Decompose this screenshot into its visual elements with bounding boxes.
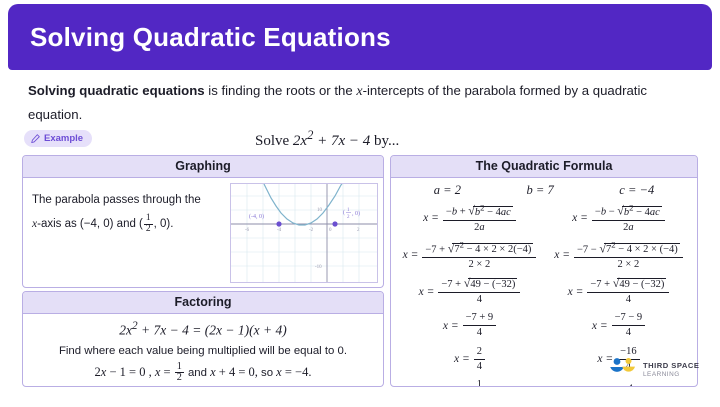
graph-frac-den: 2 [144,224,153,235]
brand-logo-line2: LEARNING [643,371,699,378]
formula-step: x = −7 + √49 − (−32)4 [544,277,693,306]
page-title: Solving Quadratic Equations [30,22,391,53]
root-point-left [276,221,281,226]
coefficient-b: b = 7 [527,183,554,198]
formula-step: x = −7 − √72 − 4 × 2 × (−4)2 × 2 [544,240,693,272]
svg-text:-4: -4 [277,228,282,233]
example-badge-label: Example [44,133,83,144]
svg-text:0: 0 [329,228,332,233]
coefficients-row: a = 2 b = 7 c = −4 [391,178,697,200]
factoring-equation: 2x2 + 7x − 4 = (2x − 1)(x + 4) [31,320,375,339]
graphing-panel-body: The parabola passes through the x-axis a… [23,178,383,288]
pencil-icon [31,134,40,143]
factoring-panel-title: Factoring [23,292,383,314]
parabola-chart: -6 -4 -2 0 2 10 -10 (-4, 0) [230,183,378,283]
formula-step: x = −7 − 94 [544,312,693,339]
formula-step: x = −7 + 94 [395,312,544,339]
brand-logo: THIRD SPACE LEARNING [608,356,699,385]
third-space-learning-icon [608,356,638,385]
solve-prefix: Solve [255,133,289,149]
graphing-panel: Graphing The parabola passes through the… [22,155,384,288]
factoring-final-line: 2x − 1 = 0 , x = 12 and x + 4 = 0, so x … [31,362,375,385]
factoring-note: Find where each value being multiplied w… [31,345,375,357]
svg-text:2: 2 [347,215,350,220]
intro-rest-1: is finding the roots or the [205,83,357,98]
svg-text:-10: -10 [315,265,322,270]
solve-expression: 2x2 + 7x − 4 [293,133,370,149]
svg-text:(-4, 0): (-4, 0) [249,213,264,220]
formula-step: x = −b + √b2 − 4ac2a [395,202,544,234]
solve-suffix: by... [374,133,399,149]
intro-paragraph: Solving quadratic equations is finding t… [28,80,700,125]
formula-column-plus: x = −b + √b2 − 4ac2a x = −7 + √72 − 4 × … [395,200,544,387]
root-point-right [332,221,337,226]
svg-text:, 0): , 0) [352,210,360,217]
example-badge: Example [24,130,92,147]
svg-text:2: 2 [357,228,360,233]
factoring-panel: Factoring 2x2 + 7x − 4 = (2x − 1)(x + 4)… [22,291,384,387]
brand-logo-line1: THIRD SPACE [643,362,699,371]
quadratic-formula-panel: The Quadratic Formula a = 2 b = 7 c = −4… [390,155,698,387]
graphing-description-line2: x-axis as (−4, 0) and (12, 0). [32,212,228,236]
svg-text:-6: -6 [245,228,250,233]
formula-step-result: x = 12 [395,379,544,387]
svg-text:10: 10 [317,208,323,213]
factoring-frac-num: 1 [175,362,184,373]
quadratic-formula-panel-title: The Quadratic Formula [391,156,697,178]
svg-text:-2: -2 [309,228,314,233]
solve-prompt: Solve 2x2 + 7x − 4 by... [255,128,399,150]
formula-step: x = −b − √b2 − 4ac2a [544,202,693,234]
coefficient-a: a = 2 [434,183,461,198]
formula-step: x = 24 [395,346,544,373]
svg-text:(: ( [343,209,345,216]
formula-step: x = −7 + √72 − 4 × 2 × 2(−4)2 × 2 [395,240,544,272]
graph-frac-num: 1 [144,214,153,224]
graphing-panel-title: Graphing [23,156,383,178]
coefficient-c: c = −4 [619,183,654,198]
graphing-description: The parabola passes through the x-axis a… [32,188,228,236]
brand-logo-text: THIRD SPACE LEARNING [643,362,699,378]
slide-root: Solving Quadratic Equations Solving quad… [0,0,720,407]
formula-step: x = −7 + √49 − (−32)4 [395,277,544,306]
factoring-panel-body: 2x2 + 7x − 4 = (2x − 1)(x + 4) Find wher… [23,314,383,384]
factoring-frac-den: 2 [175,372,184,384]
intro-bold-lead: Solving quadratic equations [28,83,205,98]
graphing-description-line1: The parabola passes through the [32,188,228,212]
